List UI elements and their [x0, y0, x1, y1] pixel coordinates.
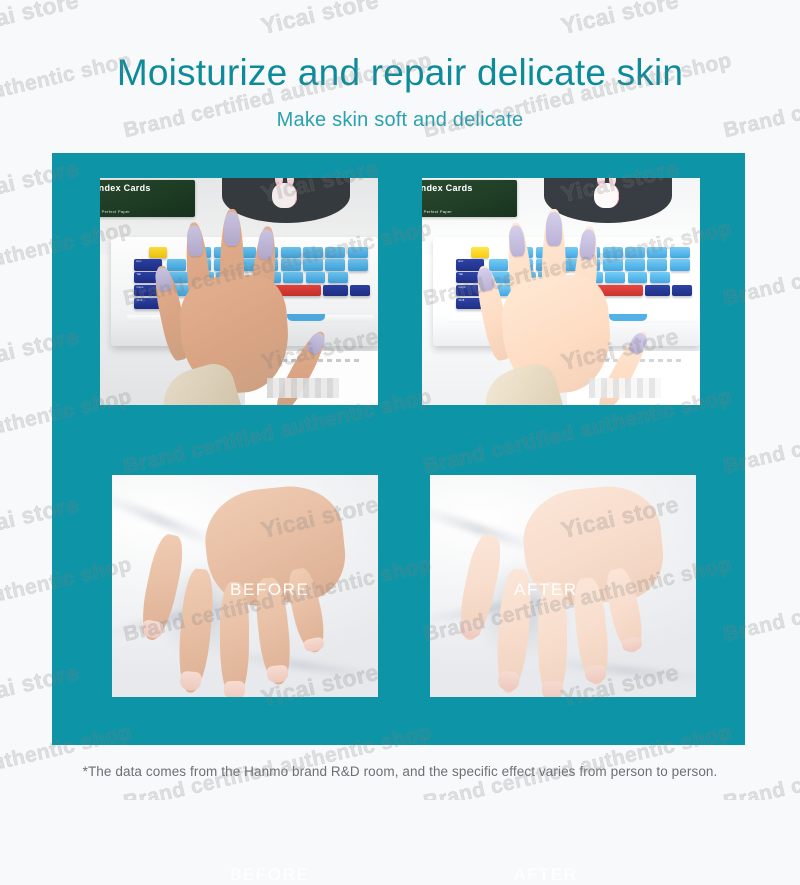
bunny-figurine-icon [594, 183, 619, 208]
hand-before [161, 205, 306, 405]
index-cards-sublabel: Perfect Paper [102, 209, 130, 214]
index-cards-label: ndex Cards [100, 183, 151, 193]
caption-after-keyboard: AFTER [514, 580, 578, 600]
disclaimer-note: *The data comes from the Hanmo brand R&D… [0, 764, 800, 779]
keyboard-scene: ndex Cards Perfect Paper Esc Tab Caps Sh… [100, 178, 378, 405]
keyboard-scene: ndex Cards Perfect Paper Esc Tab Caps Sh… [422, 178, 700, 405]
caption-after-cloth: AFTER [514, 865, 578, 885]
index-cards-sublabel: Perfect Paper [424, 209, 452, 214]
header: Moisturize and repair delicate skin Make… [0, 0, 800, 132]
caption-before-keyboard: BEFORE [230, 580, 310, 600]
photo-before-keyboard: ndex Cards Perfect Paper Esc Tab Caps Sh… [100, 178, 378, 405]
page-title: Moisturize and repair delicate skin [0, 52, 800, 95]
bunny-figurine-icon [272, 183, 297, 208]
mosaic-redaction [267, 378, 339, 398]
mosaic-redaction [589, 378, 661, 398]
hand-after [483, 205, 628, 405]
page-subtitle: Make skin soft and delicate [0, 109, 800, 132]
photo-after-keyboard: ndex Cards Perfect Paper Esc Tab Caps Sh… [422, 178, 700, 405]
comparison-panel: ndex Cards Perfect Paper Esc Tab Caps Sh… [52, 153, 745, 745]
caption-before-cloth: BEFORE [230, 865, 310, 885]
index-cards-label: ndex Cards [422, 183, 473, 193]
